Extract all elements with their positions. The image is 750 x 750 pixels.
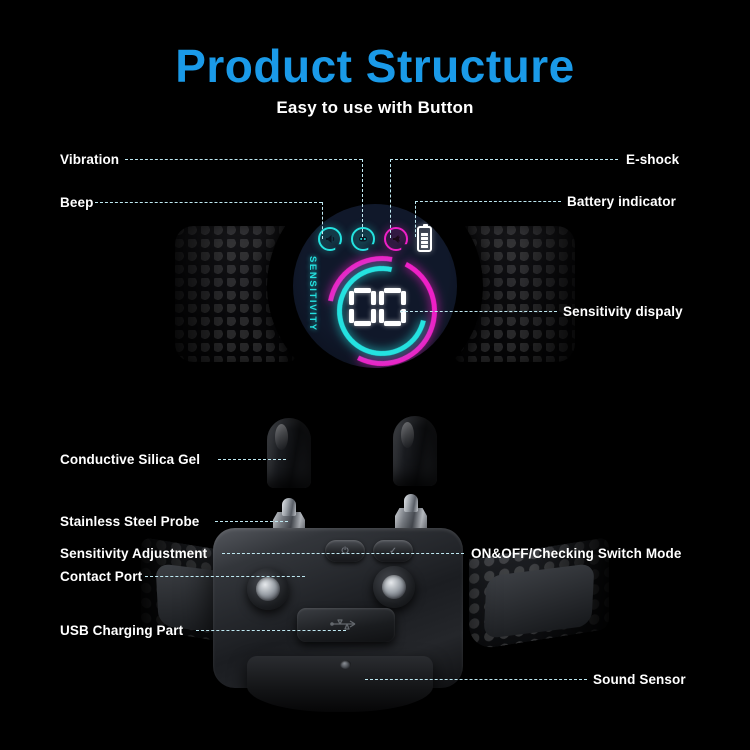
label-battery-indicator: Battery indicator xyxy=(567,194,676,209)
label-contact-port: Contact Port xyxy=(60,569,142,584)
sensitivity-label: SENSITIVITY xyxy=(307,256,318,332)
contact-port-right xyxy=(373,566,415,608)
status-icon-row xyxy=(303,222,447,256)
leader-battery-h xyxy=(415,201,561,202)
collar-receiver-device: ⏻ ✓ xyxy=(155,418,595,718)
label-e-shock: E-shock xyxy=(626,152,679,167)
sensitivity-value-display xyxy=(345,288,409,326)
label-sensitivity-adjustment: Sensitivity Adjustment xyxy=(60,546,207,561)
battery-icon xyxy=(417,226,432,252)
leader-probe-h xyxy=(215,521,288,522)
leader-battery-v xyxy=(415,201,416,237)
mode-button-glyph: ✓ xyxy=(389,546,397,557)
leader-usb-h xyxy=(196,630,346,631)
remote-screen: SENSITIVITY xyxy=(293,204,457,368)
page-subtitle: Easy to use with Button xyxy=(0,98,750,118)
label-conductive-silica-gel: Conductive Silica Gel xyxy=(60,452,200,467)
mode-button[interactable]: ✓ xyxy=(373,540,413,562)
leader-sensdisplay-h xyxy=(400,311,557,312)
label-beep: Beep xyxy=(60,195,93,210)
silica-gel-cap-right xyxy=(393,416,437,486)
label-usb-charging-part: USB Charging Part xyxy=(60,623,183,638)
label-stainless-steel-probe: Stainless Steel Probe xyxy=(60,514,199,529)
digit-tens xyxy=(349,288,376,326)
e-shock-icon[interactable] xyxy=(384,227,408,251)
leader-silicagel-h xyxy=(218,459,286,460)
beep-icon[interactable] xyxy=(351,227,375,251)
leader-sensadjust-h xyxy=(222,553,464,554)
page-title: Product Structure xyxy=(0,40,750,92)
leader-contactport-h xyxy=(145,576,305,577)
label-sensitivity-display: Sensitivity dispaly xyxy=(563,304,683,319)
digit-ones xyxy=(379,288,406,326)
remote-control-device: SENSITIVITY xyxy=(175,178,575,410)
leader-eshock-h xyxy=(390,159,618,160)
silica-gel-cap-left xyxy=(267,418,311,488)
usb-charging-cover[interactable] xyxy=(297,608,395,642)
leader-vibration-v xyxy=(362,159,363,237)
leader-eshock-v xyxy=(390,159,391,238)
infographic-canvas: Product Structure Easy to use with Butto… xyxy=(0,0,750,750)
power-button[interactable]: ⏻ xyxy=(325,540,365,562)
leader-beep-h xyxy=(95,202,322,203)
contact-port-left xyxy=(247,568,289,610)
label-vibration: Vibration xyxy=(60,152,119,167)
leader-vibration-h xyxy=(125,159,362,160)
leader-soundsensor-h xyxy=(365,679,587,680)
label-sound-sensor: Sound Sensor xyxy=(593,672,686,687)
sensitivity-gauge xyxy=(327,256,427,356)
label-on-off-checking-switch-mode: ON&OFF/Checking Switch Mode xyxy=(471,546,681,561)
power-button-glyph: ⏻ xyxy=(341,546,348,557)
leader-beep-v xyxy=(322,202,323,239)
sound-sensor-hole xyxy=(340,660,351,669)
